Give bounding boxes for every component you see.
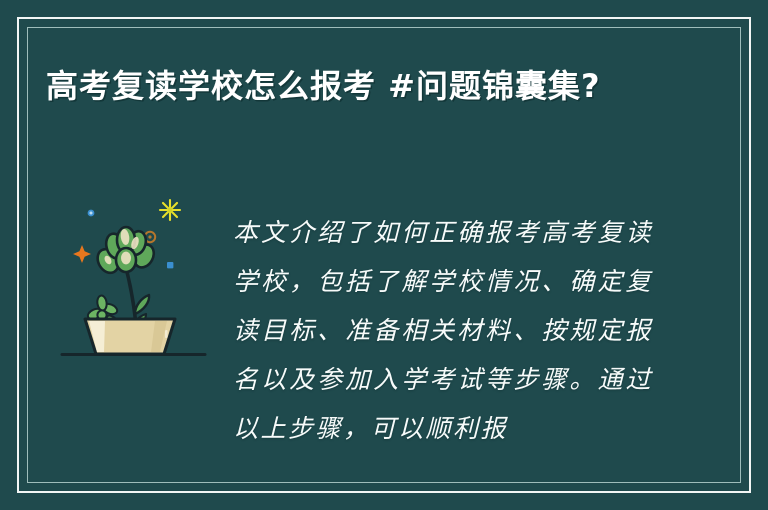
article-cover-card: 高考复读学校怎么报考 #问题锦囊集? xyxy=(0,0,768,510)
blue-dot-upper-left-icon xyxy=(88,210,95,217)
flower-pot xyxy=(85,319,175,354)
potted-plant-illustration xyxy=(55,188,220,368)
blue-square-dot-icon xyxy=(167,262,173,268)
page-title: 高考复读学校怎么报考 #问题锦囊集? xyxy=(46,62,666,110)
title-block: 高考复读学校怎么报考 #问题锦囊集? xyxy=(46,62,666,110)
article-summary-text: 本文介绍了如何正确报考高考复读学校，包括了解学校情况、确定复读目标、准备相关材料… xyxy=(233,208,653,453)
yellow-sunburst-icon xyxy=(160,200,180,220)
orange-star-icon xyxy=(73,245,91,263)
